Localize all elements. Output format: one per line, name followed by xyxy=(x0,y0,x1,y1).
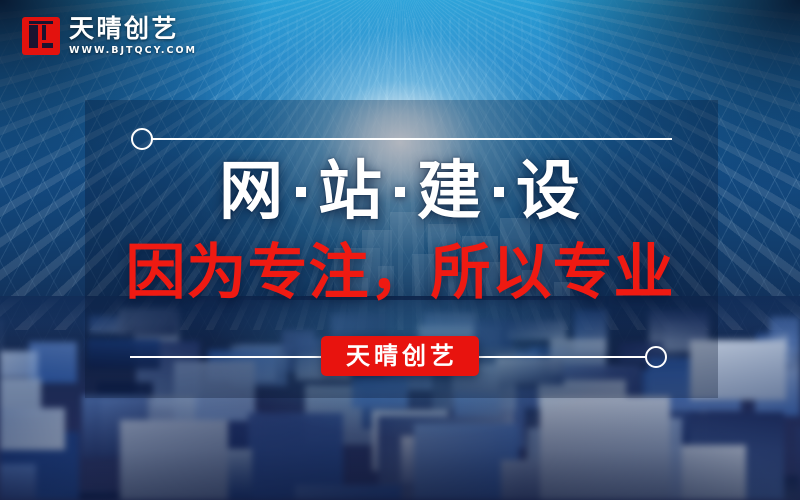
logo-text-group: 天晴创艺 WWW.BJTQCY.COM xyxy=(69,16,197,56)
logo-mark-icon xyxy=(22,17,60,55)
main-title: 网站建设 xyxy=(0,160,800,224)
promo-banner: 天晴创艺 WWW.BJTQCY.COM 网站建设 因为专注，所以专业 天晴创艺 xyxy=(0,0,800,500)
title-glyph: 站 xyxy=(318,155,383,229)
subtitle: 因为专注，所以专业 xyxy=(0,243,800,303)
title-glyph: 设 xyxy=(516,155,581,229)
title-separator-dot xyxy=(395,187,405,197)
logo-website-url: WWW.BJTQCY.COM xyxy=(69,46,197,56)
logo-brand-name: 天晴创艺 xyxy=(69,16,197,41)
right-circle-marker xyxy=(645,346,667,368)
title-glyph: 网 xyxy=(219,155,284,229)
brand-badge[interactable]: 天晴创艺 xyxy=(321,336,479,376)
title-glyph: 建 xyxy=(417,155,482,229)
left-circle-marker xyxy=(131,128,153,150)
title-separator-dot xyxy=(296,187,306,197)
title-separator-dot xyxy=(494,187,504,197)
brand-logo[interactable]: 天晴创艺 WWW.BJTQCY.COM xyxy=(22,16,197,56)
brand-badge-label: 天晴创艺 xyxy=(342,344,458,368)
top-divider-rule xyxy=(152,138,672,140)
